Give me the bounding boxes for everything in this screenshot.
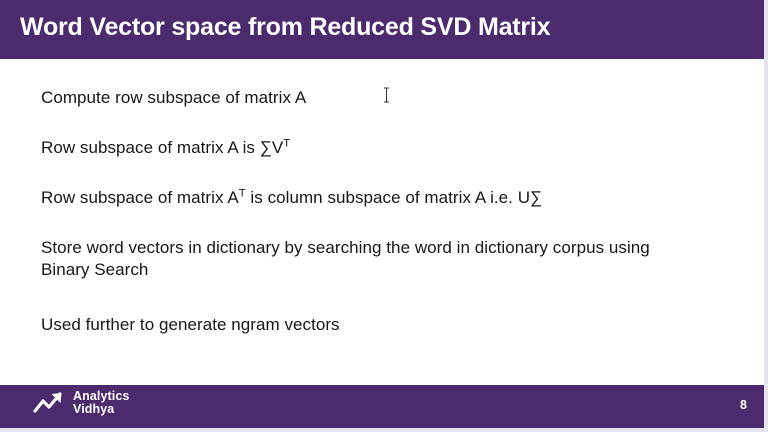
page-title: Word Vector space from Reduced SVD Matri… [20, 13, 550, 42]
logo-wordmark-line2: Vidhya [73, 403, 129, 416]
body-line-3-text-tail: is column subspace of matrix A i.e. U∑ [246, 188, 543, 207]
body-line-3-text: Row subspace of matrix A [41, 188, 239, 207]
body-line-2-superscript: T [283, 137, 290, 149]
body-line-5: Used further to generate ngram vectors [41, 314, 340, 336]
body-line-2-text: Row subspace of matrix A is ∑V [41, 138, 283, 157]
body-line-1: Compute row subspace of matrix A [41, 87, 306, 109]
body-line-4: Store word vectors in dictionary by sear… [41, 237, 681, 281]
body-line-1-text: Compute row subspace of matrix A [41, 88, 306, 107]
logo-wordmark: Analytics Vidhya [73, 390, 129, 416]
page-number: 8 [740, 398, 747, 412]
bottom-edge-rail [0, 428, 768, 432]
right-edge-rail [764, 0, 768, 432]
trending-up-arrow-icon [33, 390, 67, 416]
body-line-5-text: Used further to generate ngram vectors [41, 315, 340, 334]
body-line-4-text: Store word vectors in dictionary by sear… [41, 238, 650, 279]
slide-body: Compute row subspace of matrix A Row sub… [0, 59, 765, 385]
body-line-3-superscript: T [239, 187, 246, 199]
body-line-3: Row subspace of matrix AT is column subs… [41, 187, 542, 209]
body-line-2: Row subspace of matrix A is ∑VT [41, 137, 290, 159]
slide-header-bar: Word Vector space from Reduced SVD Matri… [0, 0, 765, 59]
presentation-slide: Word Vector space from Reduced SVD Matri… [0, 0, 768, 432]
analytics-vidhya-logo: Analytics Vidhya [33, 390, 129, 416]
